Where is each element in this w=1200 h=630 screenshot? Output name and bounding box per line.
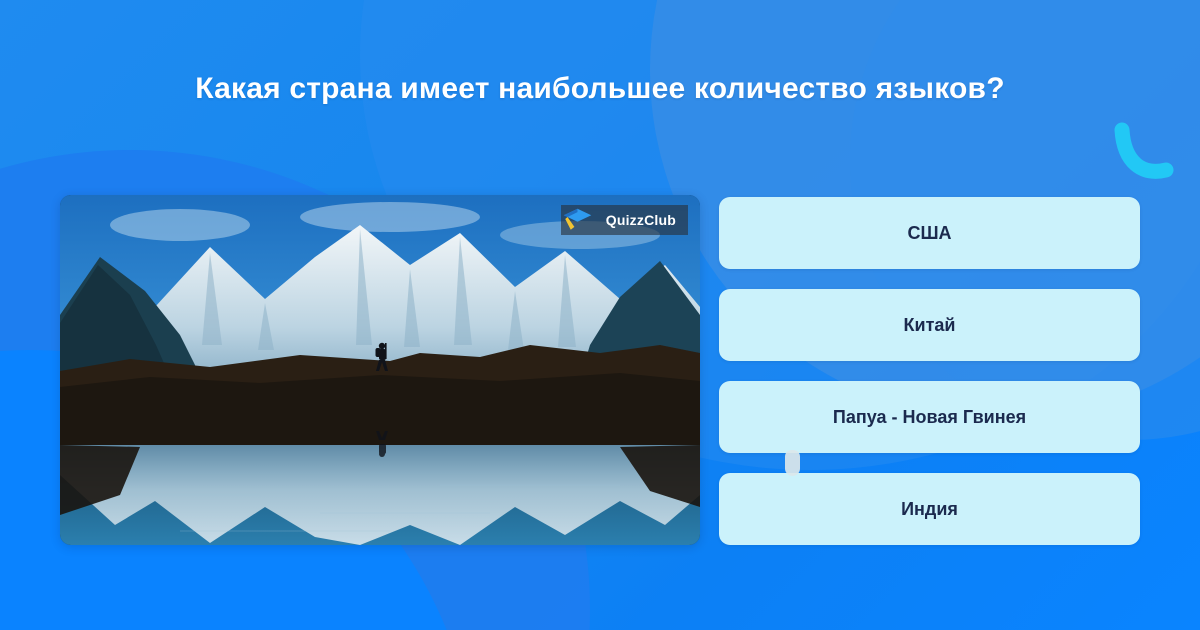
answer-option-3[interactable]: Папуа - Новая Гвинея [719, 381, 1140, 453]
answer-option-2[interactable]: Китай [719, 289, 1140, 361]
page-title: Какая страна имеет наибольшее количество… [0, 72, 1200, 106]
answer-option-4[interactable]: Индия [719, 473, 1140, 545]
answer-list: США Китай Папуа - Новая Гвинея Индия [719, 197, 1140, 545]
quiz-card: Какая страна имеет наибольшее количество… [0, 0, 1200, 630]
answer-option-1[interactable]: США [719, 197, 1140, 269]
cursor-marker [785, 450, 800, 476]
graduation-cap-icon [561, 205, 594, 235]
watermark-badge: QuizzClub [561, 205, 688, 235]
question-image: QuizzClub [60, 195, 700, 545]
watermark-brand: QuizzClub [594, 205, 688, 235]
cyan-arc-icon [1108, 118, 1198, 198]
